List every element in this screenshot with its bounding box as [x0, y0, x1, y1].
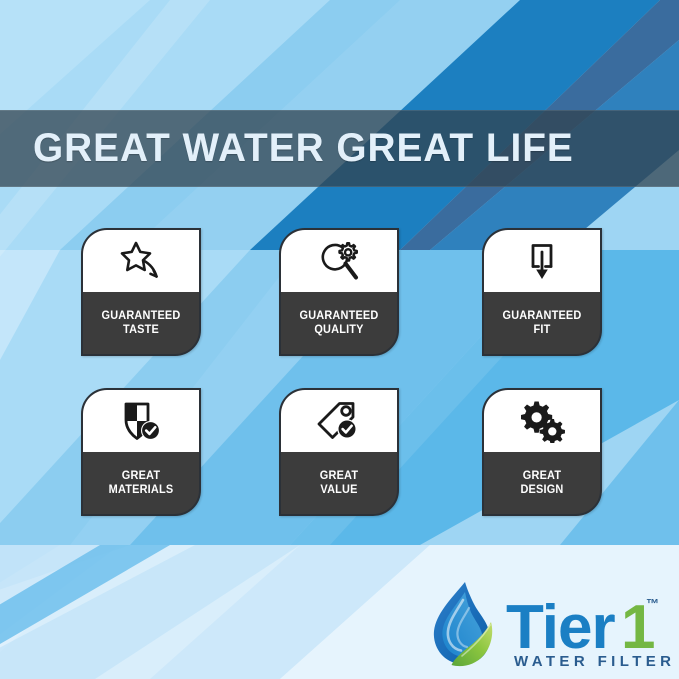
card-label-line1: GUARANTEED: [300, 309, 379, 323]
shield-check-icon: [83, 390, 199, 452]
feature-card-great-value[interactable]: GREAT VALUE: [279, 388, 399, 516]
card-label: GUARANTEED TASTE: [86, 292, 196, 354]
feature-card-great-design[interactable]: GREAT DESIGN: [482, 388, 602, 516]
card-label-line1: GREAT: [122, 469, 160, 483]
card-label-line2: FIT: [534, 323, 551, 337]
card-label-line1: GUARANTEED: [102, 309, 181, 323]
feature-card-guaranteed-fit[interactable]: GUARANTEED FIT: [482, 228, 602, 356]
feature-card-guaranteed-quality[interactable]: GUARANTEED QUALITY: [279, 228, 399, 356]
card-label: GREAT MATERIALS: [86, 452, 196, 514]
card-label-line2: QUALITY: [314, 323, 363, 337]
card-label-line2: VALUE: [320, 483, 357, 497]
feature-card-guaranteed-taste[interactable]: GUARANTEED TASTE: [81, 228, 201, 356]
card-label-line1: GREAT: [523, 469, 561, 483]
headline-banner: GREAT WATER GREAT LIFE: [0, 110, 679, 187]
card-label-line2: MATERIALS: [109, 483, 174, 497]
card-label-line2: DESIGN: [520, 483, 563, 497]
card-label-line1: GUARANTEED: [503, 309, 582, 323]
page-title: GREAT WATER GREAT LIFE: [0, 126, 574, 171]
logo-trademark: ™: [646, 596, 659, 611]
card-label: GREAT VALUE: [284, 452, 394, 514]
logo-tagline: WATER FILTERS: [514, 653, 672, 670]
promo-graphic: GREAT WATER GREAT LIFE GUARANTEED TASTE: [0, 0, 679, 679]
logo-brand-tier: Tier: [506, 593, 615, 662]
card-label-line1: GREAT: [320, 469, 358, 483]
card-label-line2: TASTE: [123, 323, 159, 337]
two-gears-icon: [484, 390, 600, 452]
insert-down-arrow-icon: [484, 230, 600, 292]
card-label: GUARANTEED QUALITY: [284, 292, 394, 354]
shooting-star-icon: [83, 230, 199, 292]
water-drop-leaf-icon: [434, 582, 492, 666]
price-tag-check-icon: [281, 390, 397, 452]
tier1-logo: Tier 1 ™ WATER FILTERS: [424, 576, 672, 672]
card-label: GREAT DESIGN: [487, 452, 597, 514]
magnifier-gear-icon: [281, 230, 397, 292]
feature-card-great-materials[interactable]: GREAT MATERIALS: [81, 388, 201, 516]
card-label: GUARANTEED FIT: [487, 292, 597, 354]
